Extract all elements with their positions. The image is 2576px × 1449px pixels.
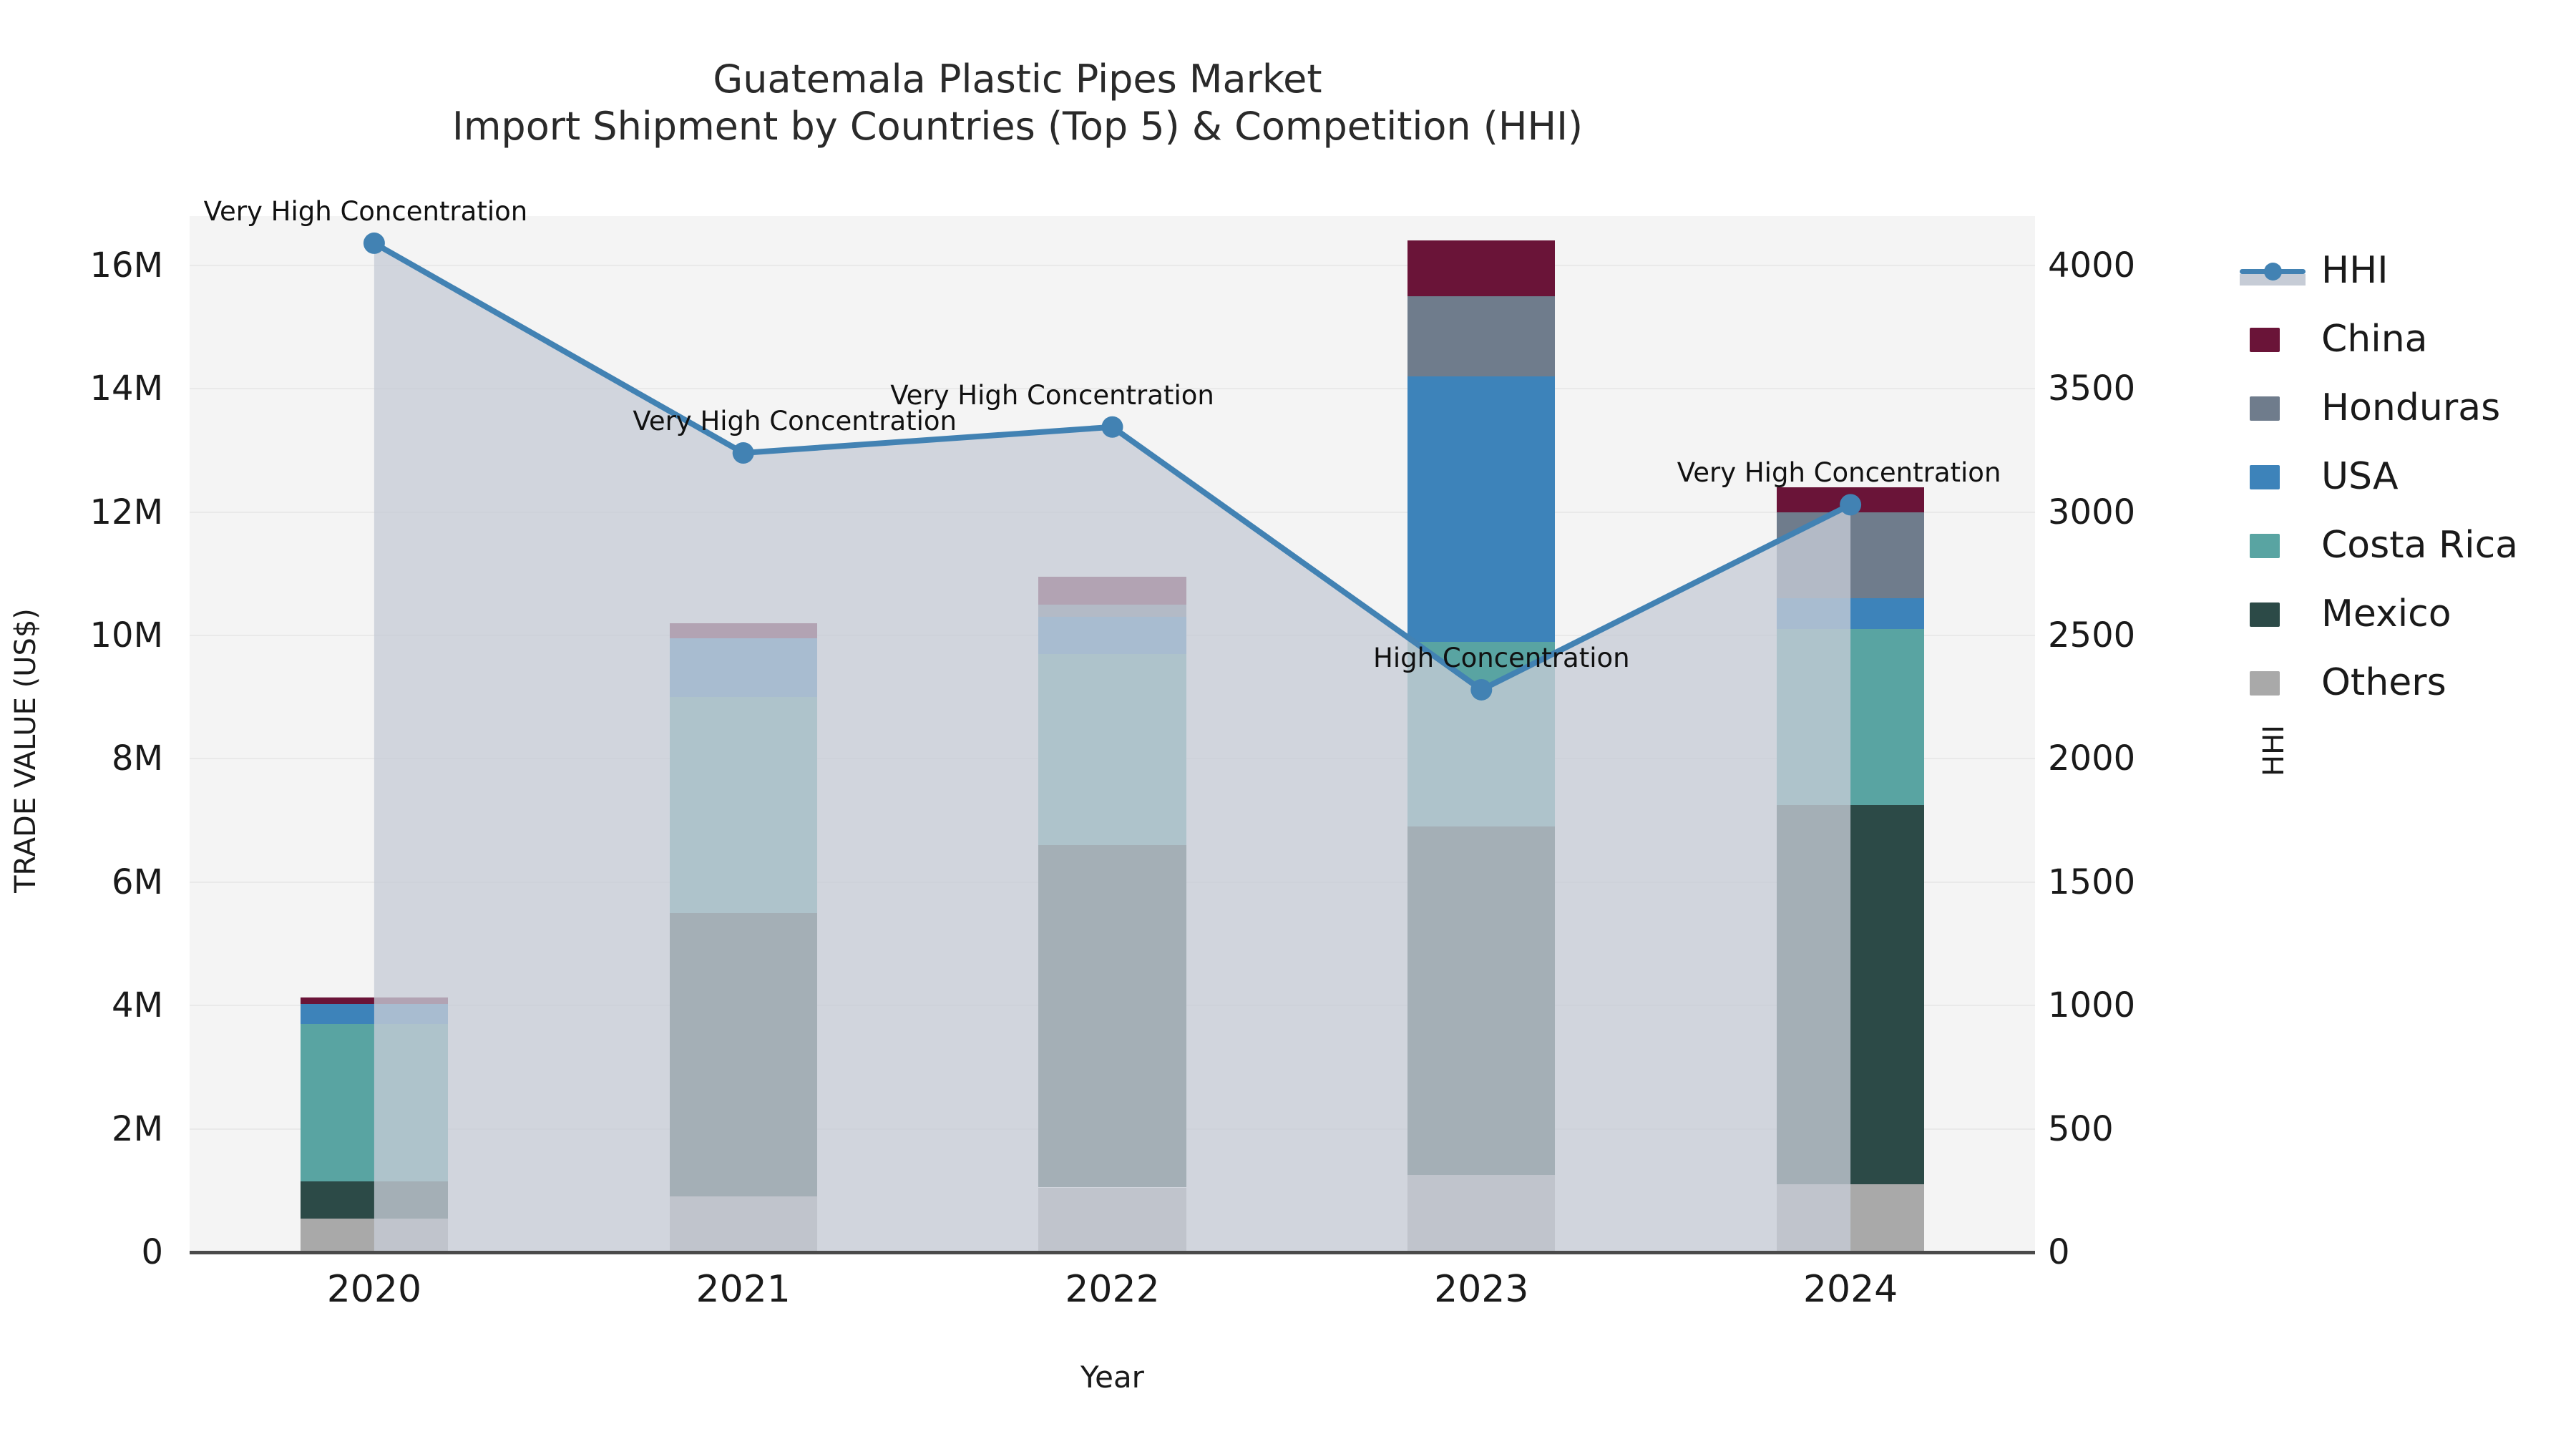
hhi-marker bbox=[1102, 416, 1123, 438]
y-tick-right: 3000 bbox=[2048, 492, 2135, 532]
legend-item-hhi[interactable]: HHI bbox=[2240, 236, 2576, 305]
legend-item-others[interactable]: Others bbox=[2240, 648, 2576, 717]
legend-color-swatch bbox=[2250, 328, 2280, 352]
legend-item-costa-rica[interactable]: Costa Rica bbox=[2240, 511, 2576, 580]
y-tick-right: 500 bbox=[2048, 1109, 2114, 1149]
y-tick-left: 12M bbox=[90, 492, 164, 532]
y-tick-left: 2M bbox=[112, 1109, 163, 1149]
y-tick-left: 16M bbox=[90, 245, 164, 286]
hhi-marker bbox=[364, 233, 385, 254]
y-tick-left: 14M bbox=[90, 369, 164, 409]
legend-label: Others bbox=[2321, 661, 2446, 704]
legend-label: Honduras bbox=[2321, 386, 2500, 429]
legend-line-icon bbox=[2240, 250, 2306, 291]
x-tick-2024: 2024 bbox=[1803, 1268, 1898, 1311]
y-tick-right: 1000 bbox=[2048, 985, 2135, 1025]
y-tick-right: 4000 bbox=[2048, 245, 2135, 286]
y-tick-left: 8M bbox=[112, 738, 163, 779]
chart-legend: HHIChinaHondurasUSACosta RicaMexicoOther… bbox=[2240, 236, 2576, 717]
legend-swatch-icon bbox=[2240, 525, 2306, 565]
legend-label: China bbox=[2321, 318, 2428, 361]
x-tick-2020: 2020 bbox=[327, 1268, 421, 1311]
x-tick-2021: 2021 bbox=[696, 1268, 791, 1311]
y-tick-right: 1500 bbox=[2048, 862, 2135, 902]
legend-item-usa[interactable]: USA bbox=[2240, 442, 2576, 511]
x-axis-title: Year bbox=[190, 1360, 2035, 1395]
hhi-annotation: Very High Concentration bbox=[204, 196, 528, 227]
x-axis-ticks: 20202021202220232024 bbox=[190, 1268, 2035, 1318]
legend-color-swatch bbox=[2250, 465, 2280, 489]
chart-subtitle: Import Shipment by Countries (Top 5) & C… bbox=[0, 103, 2035, 150]
legend-swatch-icon bbox=[2240, 319, 2306, 359]
y-tick-left: 4M bbox=[112, 985, 163, 1025]
y-axis-right-ticks: 05001000150020002500300035004000 bbox=[2048, 0, 2263, 1449]
legend-swatch-icon bbox=[2240, 594, 2306, 634]
chart-title: Guatemala Plastic Pipes Market bbox=[0, 56, 2035, 103]
plot-area: Very High ConcentrationVery High Concent… bbox=[190, 216, 2035, 1252]
x-tick-2023: 2023 bbox=[1434, 1268, 1528, 1311]
legend-label: Costa Rica bbox=[2321, 524, 2518, 567]
hhi-marker bbox=[1840, 494, 1861, 515]
y-tick-right: 2500 bbox=[2048, 615, 2135, 655]
legend-color-swatch bbox=[2250, 534, 2280, 558]
hhi-marker bbox=[1470, 679, 1492, 701]
chart-title-block: Guatemala Plastic Pipes Market Import Sh… bbox=[0, 56, 2035, 150]
legend-item-honduras[interactable]: Honduras bbox=[2240, 374, 2576, 442]
legend-item-mexico[interactable]: Mexico bbox=[2240, 580, 2576, 648]
legend-swatch-icon bbox=[2240, 663, 2306, 703]
legend-color-swatch bbox=[2250, 671, 2280, 696]
legend-color-swatch bbox=[2250, 602, 2280, 627]
hhi-marker bbox=[733, 442, 754, 464]
hhi-annotation: Very High Concentration bbox=[890, 380, 1214, 411]
y-axis-left-title: TRADE VALUE (US$) bbox=[9, 565, 42, 937]
legend-swatch-icon bbox=[2240, 457, 2306, 497]
y-tick-right: 0 bbox=[2048, 1232, 2070, 1272]
y-tick-right: 2000 bbox=[2048, 738, 2135, 779]
hhi-annotation: High Concentration bbox=[1373, 643, 1630, 673]
x-axis-baseline bbox=[190, 1251, 2035, 1254]
plot-inner: Very High ConcentrationVery High Concent… bbox=[190, 216, 2035, 1252]
hhi-series bbox=[190, 216, 2035, 1252]
legend-label: USA bbox=[2321, 455, 2399, 498]
y-tick-left: 6M bbox=[112, 862, 163, 902]
x-tick-2022: 2022 bbox=[1065, 1268, 1159, 1311]
legend-label: HHI bbox=[2321, 249, 2389, 292]
legend-color-swatch bbox=[2250, 396, 2280, 421]
legend-marker-dot bbox=[2264, 263, 2282, 280]
y-tick-right: 3500 bbox=[2048, 369, 2135, 409]
legend-label: Mexico bbox=[2321, 592, 2451, 635]
y-tick-left: 0 bbox=[141, 1232, 163, 1272]
hhi-annotation: Very High Concentration bbox=[1677, 457, 2001, 488]
legend-item-china[interactable]: China bbox=[2240, 305, 2576, 374]
y-tick-left: 10M bbox=[90, 615, 164, 655]
legend-swatch-icon bbox=[2240, 388, 2306, 428]
